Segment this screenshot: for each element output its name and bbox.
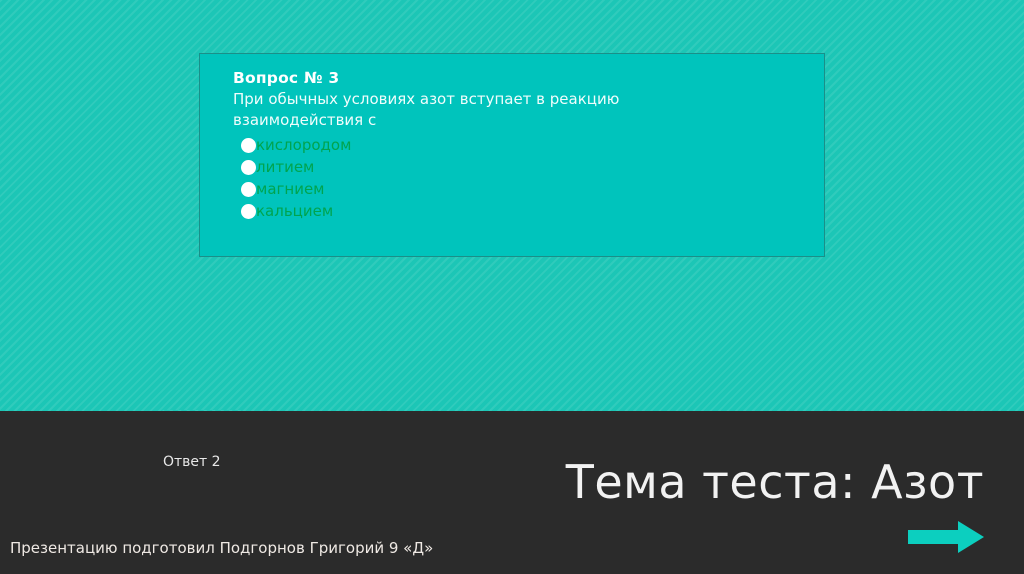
radio-bullet-icon[interactable] xyxy=(241,204,256,219)
answer-options-list: кислородом литием магнием кальцием xyxy=(241,134,824,222)
presentation-credit-line: Презентацию подготовил Подгорнов Григори… xyxy=(10,539,433,557)
question-number-label: Вопрос № 3 xyxy=(233,68,824,88)
radio-bullet-icon[interactable] xyxy=(241,182,256,197)
answer-option-label: литием xyxy=(256,156,314,178)
question-card: Вопрос № 3 При обычных условиях азот вст… xyxy=(199,53,825,257)
question-prompt-text: При обычных условиях азот вступает в реа… xyxy=(233,89,753,131)
answer-option-1[interactable]: кислородом xyxy=(241,134,824,156)
answer-option-label: кальцием xyxy=(256,200,333,222)
answer-option-2[interactable]: литием xyxy=(241,156,824,178)
answer-option-3[interactable]: магнием xyxy=(241,178,824,200)
answer-option-4[interactable]: кальцием xyxy=(241,200,824,222)
radio-bullet-icon[interactable] xyxy=(241,160,256,175)
arrow-right-icon[interactable] xyxy=(908,521,984,553)
slide-title: Тема теста: Азот xyxy=(566,455,984,509)
slide-canvas: Вопрос № 3 При обычных условиях азот вст… xyxy=(0,0,1024,574)
answer-note-label: Ответ 2 xyxy=(163,454,221,470)
answer-option-label: магнием xyxy=(256,178,325,200)
answer-option-label: кислородом xyxy=(256,134,351,156)
radio-bullet-icon[interactable] xyxy=(241,138,256,153)
